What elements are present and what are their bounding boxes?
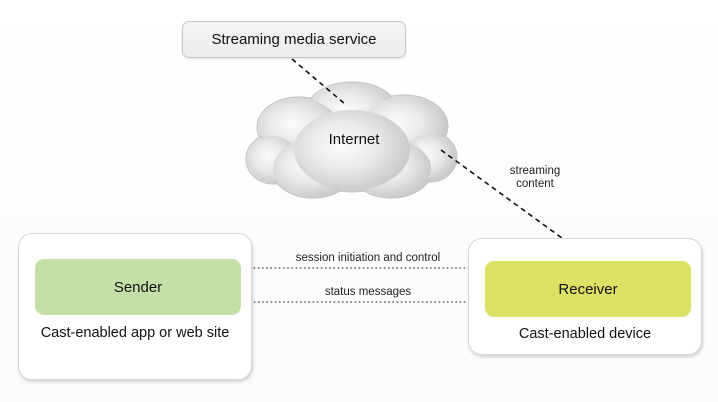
- receiver-caption: Cast-enabled device: [469, 323, 701, 345]
- node-sender-card[interactable]: Sender Cast-enabled app or web site: [18, 233, 252, 380]
- sender-caption: Cast-enabled app or web site: [19, 322, 251, 344]
- node-receiver-card[interactable]: Receiver Cast-enabled device: [468, 238, 702, 355]
- sender-chip[interactable]: Sender: [35, 259, 241, 315]
- diagram-canvas: Streaming media service Internet Sender …: [0, 0, 718, 402]
- node-streaming-media-service[interactable]: Streaming media service: [182, 21, 406, 58]
- sender-label: Sender: [114, 279, 162, 296]
- receiver-chip[interactable]: Receiver: [485, 261, 691, 317]
- streaming-media-service-label: Streaming media service: [211, 31, 376, 48]
- receiver-label: Receiver: [558, 281, 617, 298]
- internet-cloud-shape: [246, 82, 457, 198]
